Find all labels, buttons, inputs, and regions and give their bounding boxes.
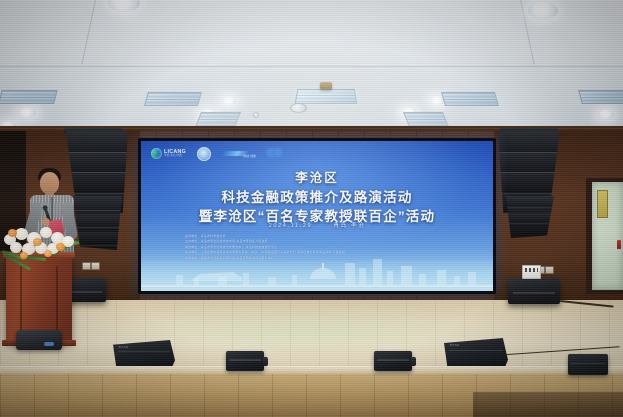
sponsor-logo-row: LICANG 李沧 青岛 中国 科技 创新 CS — [147, 145, 487, 162]
stage-monitor-speaker — [226, 351, 264, 371]
orange-flower — [20, 252, 28, 259]
qingdao-skyline-silhouette — [141, 249, 493, 291]
ceiling-vent — [295, 89, 358, 104]
fire-extinguisher-sign — [617, 240, 621, 249]
event-title-line-1: 李沧区 — [141, 171, 493, 187]
led-display-screen: LICANG 李沧 青岛 中国 科技 创新 CS 李沧区 科技金融政策推介及路演… — [138, 138, 496, 294]
ceiling-downlight — [430, 97, 444, 105]
monitor-handle — [263, 357, 268, 366]
projector-mount — [320, 82, 332, 90]
cs-logo-text: CS — [267, 148, 282, 159]
ceiling-vent — [578, 90, 623, 104]
orange-flower — [33, 238, 42, 246]
ceiling-downlight — [108, 0, 140, 12]
power-strip-on-subwoofer — [522, 265, 541, 279]
sprinkler-head — [253, 112, 259, 118]
stage-apron-shadow — [473, 392, 623, 417]
licang-swirl-icon — [151, 148, 162, 159]
monitor-handle — [411, 357, 416, 366]
orange-flower — [8, 229, 17, 237]
ceiling-downlight — [222, 97, 236, 105]
ceiling — [0, 0, 623, 132]
ceiling-downlight — [598, 110, 614, 119]
ceiling-vent — [144, 92, 202, 106]
wall-notice-board — [597, 190, 608, 218]
event-dateline: 2024.11.29 青岛 李沧 — [141, 221, 493, 229]
institute-round-logo-icon — [197, 147, 211, 161]
event-location: 青岛 李沧 — [333, 223, 365, 229]
smoke-detector — [290, 103, 307, 113]
event-date: 2024.11.29 — [269, 223, 313, 229]
ceiling-downlight — [18, 108, 36, 118]
swoosh-logo-icon: 科技 创新 — [222, 148, 256, 160]
stage-monitor-speaker — [374, 351, 412, 371]
licang-logo: LICANG 李沧 青岛 中国 — [151, 147, 186, 161]
led-screen-content: LICANG 李沧 青岛 中国 科技 创新 CS 李沧区 科技金融政策推介及路演… — [141, 141, 493, 291]
ceiling-vent — [441, 92, 499, 106]
ceiling-downlight — [401, 108, 417, 117]
ceiling-vent — [0, 90, 58, 104]
orange-flower — [56, 243, 65, 251]
swoosh-logo-subtext: 科技 创新 — [243, 154, 256, 158]
stage-floor — [0, 300, 623, 372]
black-bag-on-floor — [16, 330, 62, 350]
ceiling-downlight — [528, 2, 558, 19]
event-title-line-2: 科技金融政策推介及路演活动 — [141, 189, 493, 207]
wall-socket-center — [91, 262, 100, 270]
wall-socket-right-2 — [545, 266, 554, 274]
white-and-orange-flower-arrangement — [0, 222, 86, 266]
conference-hall-photo: LICANG 李沧 青岛 中国 科技 创新 CS 李沧区 科技金融政策推介及路演… — [0, 0, 623, 417]
doorway-divider — [586, 178, 589, 294]
event-title-block: 李沧区 科技金融政策推介及路演活动 暨李沧区“百名专家教授联百企”活动 — [141, 171, 493, 226]
stage-monitor-speaker — [568, 354, 608, 375]
ceiling-downlight — [200, 110, 217, 119]
orange-flower — [44, 250, 52, 257]
subwoofer-cabinet-right — [508, 278, 560, 304]
licang-logo-subtext: 李沧 青岛 中国 — [164, 155, 186, 158]
